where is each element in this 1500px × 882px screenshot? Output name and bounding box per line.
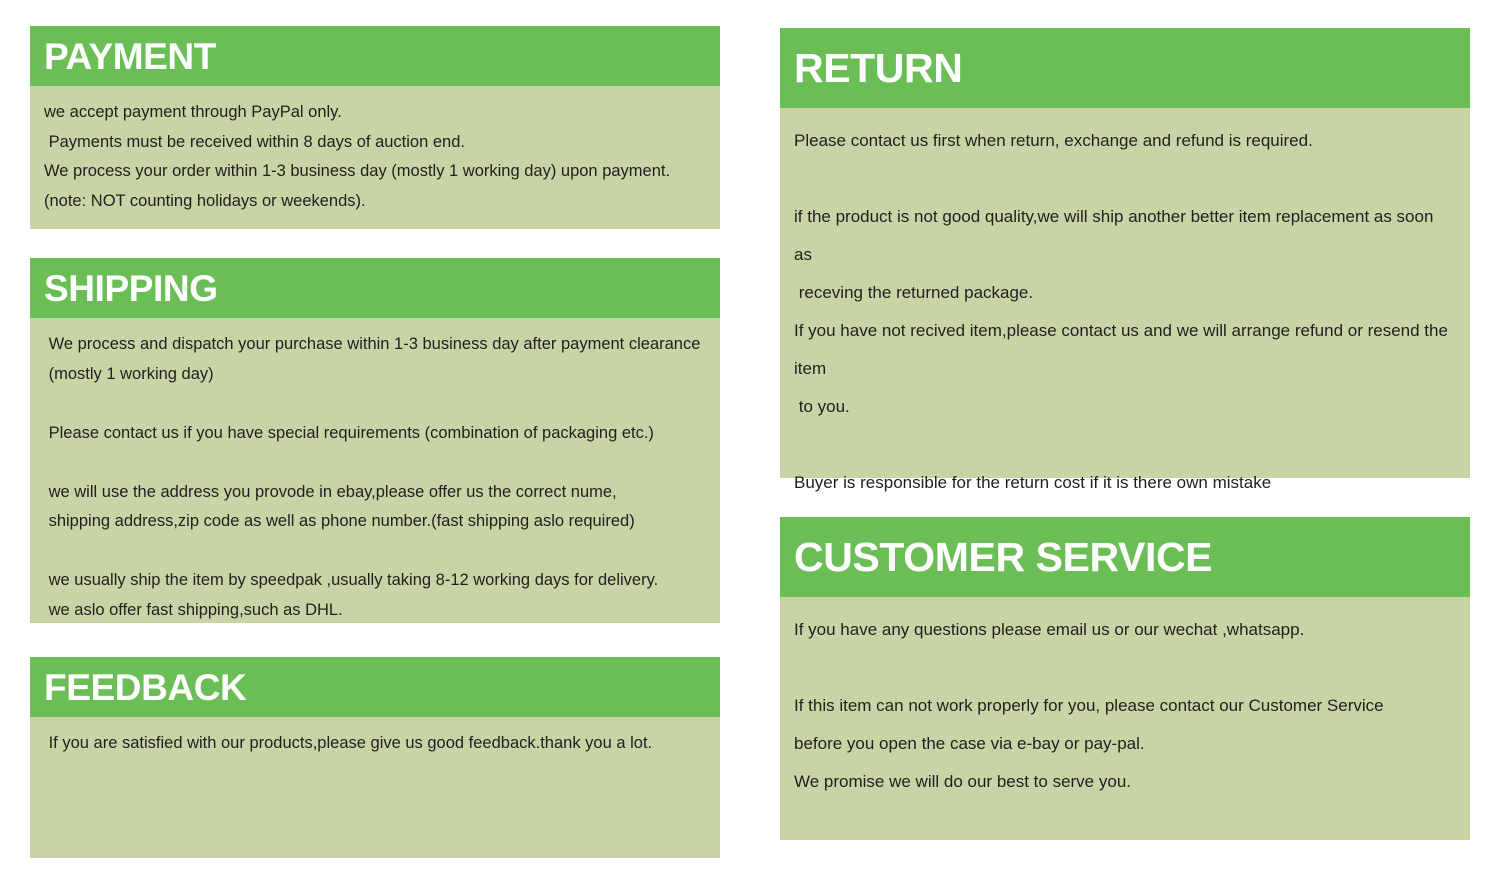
panel-header: SHIPPING (30, 258, 720, 318)
body-line: shipping address,zip code as well as pho… (44, 507, 706, 537)
body-line: Buyer is responsible for the return cost… (794, 464, 1454, 502)
panel-title: CUSTOMER SERVICE (794, 537, 1212, 578)
spacer-line (44, 448, 706, 478)
body-line: We process your order within 1-3 busines… (44, 157, 706, 187)
panel-header: PAYMENT (30, 26, 720, 86)
panel-title: RETURN (794, 48, 962, 89)
body-line: We process and dispatch your purchase wi… (44, 330, 706, 360)
panel-body: If you are satisfied with our products,p… (30, 717, 720, 769)
body-line: to you. (794, 388, 1454, 426)
body-line: Payments must be received within 8 days … (44, 128, 706, 158)
body-line: If you have not recived item,please cont… (794, 312, 1454, 388)
panel-header: CUSTOMER SERVICE (780, 517, 1470, 597)
body-line: If you are satisfied with our products,p… (44, 729, 706, 759)
body-line: we will use the address you provode in e… (44, 478, 706, 508)
body-line: before you open the case via e-bay or pa… (794, 725, 1454, 763)
body-line: (note: NOT counting holidays or weekends… (44, 187, 706, 217)
product-policy-infographic: PAYMENTwe accept payment through PayPal … (0, 0, 1500, 882)
panel-title: PAYMENT (44, 38, 216, 75)
panel-body: We process and dispatch your purchase wi… (30, 318, 720, 635)
panel-title: SHIPPING (44, 270, 218, 307)
body-line: If you have any questions please email u… (794, 611, 1454, 649)
panel-body: Please contact us first when return, exc… (780, 108, 1470, 512)
body-line: Please contact us if you have special re… (44, 419, 706, 449)
panel-return: RETURNPlease contact us first when retur… (780, 28, 1470, 478)
panel-body: If you have any questions please email u… (780, 597, 1470, 811)
panel-payment: PAYMENTwe accept payment through PayPal … (30, 26, 720, 229)
spacer-line (794, 649, 1454, 687)
body-line: we accept payment through PayPal only. (44, 98, 706, 128)
spacer-line (794, 160, 1454, 198)
panel-header: RETURN (780, 28, 1470, 108)
panel-shipping: SHIPPING We process and dispatch your pu… (30, 258, 720, 623)
body-line: if the product is not good quality,we wi… (794, 198, 1454, 274)
spacer-line (44, 537, 706, 567)
body-line: receving the returned package. (794, 274, 1454, 312)
body-line: Please contact us first when return, exc… (794, 122, 1454, 160)
spacer-line (44, 389, 706, 419)
body-line: we aslo offer fast shipping,such as DHL. (44, 596, 706, 626)
body-line: If this item can not work properly for y… (794, 687, 1454, 725)
body-line: (mostly 1 working day) (44, 360, 706, 390)
body-line: we usually ship the item by speedpak ,us… (44, 566, 706, 596)
panel-body: we accept payment through PayPal only. P… (30, 86, 720, 226)
spacer-line (794, 426, 1454, 464)
panel-title: FEEDBACK (44, 669, 246, 706)
panel-header: FEEDBACK (30, 657, 720, 717)
body-line: We promise we will do our best to serve … (794, 763, 1454, 801)
panel-feedback: FEEDBACK If you are satisfied with our p… (30, 657, 720, 858)
panel-customer-service: CUSTOMER SERVICEIf you have any question… (780, 517, 1470, 840)
